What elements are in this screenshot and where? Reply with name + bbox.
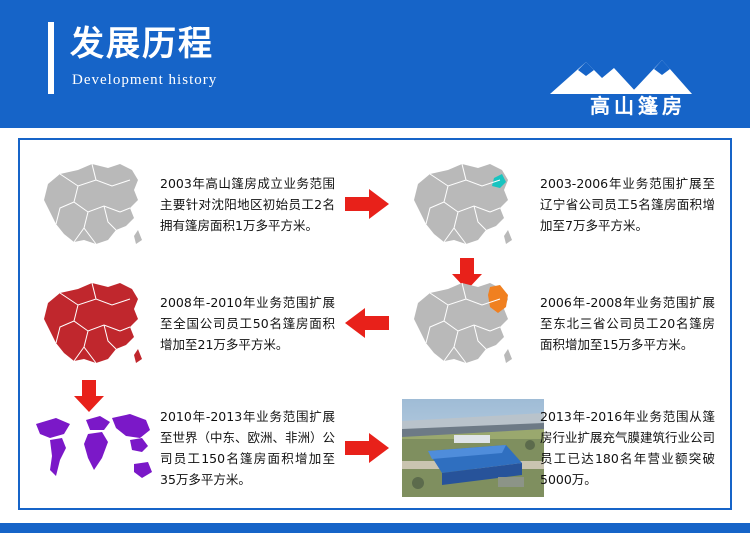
arrow-left-icon <box>345 306 389 340</box>
step-1-text: 2003年高山篷房成立业务范围主要针对沈阳地区初始员工2名拥有篷房面积1万多平方… <box>160 148 335 260</box>
step-6-visual <box>398 392 548 504</box>
arrow-1 <box>342 148 392 260</box>
diagram-row-3: 2010年-2013年业务范围扩展至世界（中东、欧洲、非洲）公司员工150名篷房… <box>20 392 734 504</box>
china-map-red-icon <box>34 275 152 371</box>
arrow-5 <box>342 392 392 504</box>
logo-text: 高山篷房 <box>554 90 722 119</box>
factory-aerial-photo-icon <box>402 399 544 497</box>
diagram-row-2: 2008年-2010年业务范围扩展至全国公司员工50名篷房面积增加至21万多平方… <box>20 268 734 378</box>
slide-root: 发展历程 Development history 高山篷房 <box>0 0 750 533</box>
diagram-row-1: 2003年高山篷房成立业务范围主要针对沈阳地区初始员工2名拥有篷房面积1万多平方… <box>20 148 734 260</box>
header-accent-bar <box>48 22 54 94</box>
world-map-purple-icon <box>30 408 156 488</box>
arrow-right-icon <box>345 187 389 221</box>
arrow-3 <box>342 268 392 378</box>
arrow-right-icon <box>345 431 389 465</box>
step-2-visual <box>398 148 528 260</box>
diagram-frame: 2003年高山篷房成立业务范围主要针对沈阳地区初始员工2名拥有篷房面积1万多平方… <box>18 138 732 510</box>
china-map-gray-icon <box>34 156 152 252</box>
step-2-text: 2003-2006年业务范围扩展至辽宁省公司员工5名篷房面积增加至7万多平方米。 <box>540 148 715 260</box>
page-title: 发展历程 <box>70 22 214 66</box>
step-5-text: 2010年-2013年业务范围扩展至世界（中东、欧洲、非洲）公司员工150名篷房… <box>160 392 335 504</box>
step-4-visual <box>28 268 158 378</box>
page-subtitle: Development history <box>72 72 217 89</box>
step-1-visual <box>28 148 158 260</box>
step-3-visual <box>398 268 528 378</box>
step-5-visual <box>28 392 158 504</box>
diagram-area: 2003年高山篷房成立业务范围主要针对沈阳地区初始员工2名拥有篷房面积1万多平方… <box>0 128 750 523</box>
footer-bar <box>0 523 750 533</box>
step-3-text: 2006年-2008年业务范围扩展至东北三省公司员工20名篷房面积增加至15万多… <box>540 268 715 378</box>
step-4-text: 2008年-2010年业务范围扩展至全国公司员工50名篷房面积增加至21万多平方… <box>160 268 335 378</box>
china-map-northeast-highlight-icon <box>404 275 522 371</box>
china-map-liaoning-highlight-icon <box>404 156 522 252</box>
header-banner: 发展历程 Development history 高山篷房 <box>0 0 750 128</box>
step-6-text: 2013年-2016年业务范围从篷房行业扩展充气膜建筑行业公司员工已达180名年… <box>540 392 715 504</box>
company-logo: 高山篷房 <box>542 52 722 116</box>
